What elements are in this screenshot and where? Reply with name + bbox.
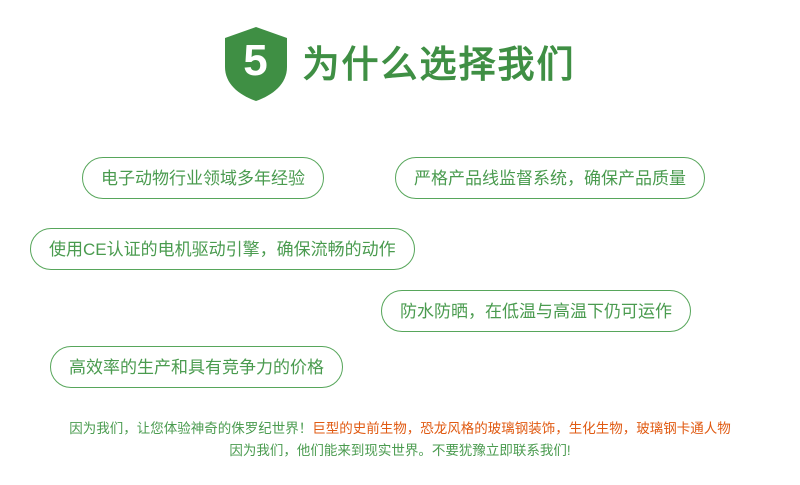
footer-line-2: 因为我们，他们能来到现实世界。不要犹豫立即联系我们! (0, 440, 800, 462)
footer-text: 因为我们，让您体验神奇的侏罗纪世界！巨型的史前生物，恐龙风格的玻璃钢装饰，生化生… (0, 418, 800, 462)
page-header: 5 为什么选择我们 (0, 26, 800, 102)
feature-pill: 电子动物行业领域多年经验 (82, 157, 324, 199)
feature-list: 电子动物行业领域多年经验 严格产品线监督系统，确保产品质量 使用CE认证的电机驱… (0, 150, 800, 390)
shield-icon: 5 (225, 27, 287, 101)
feature-pill: 严格产品线监督系统，确保产品质量 (395, 157, 705, 199)
footer-line-1: 因为我们，让您体验神奇的侏罗纪世界！巨型的史前生物，恐龙风格的玻璃钢装饰，生化生… (0, 418, 800, 440)
feature-pill: 高效率的生产和具有竞争力的价格 (50, 346, 343, 388)
footer-line-1-highlight: 巨型的史前生物，恐龙风格的玻璃钢装饰，生化生物，玻璃钢卡通人物 (312, 421, 731, 436)
feature-pill: 防水防晒，在低温与高温下仍可运作 (381, 290, 691, 332)
footer-line-1-prefix: 因为我们，让您体验神奇的侏罗纪世界！ (69, 421, 312, 436)
badge-number: 5 (225, 27, 287, 101)
promo-page: 5 为什么选择我们 电子动物行业领域多年经验 严格产品线监督系统，确保产品质量 … (0, 0, 800, 485)
feature-pill: 使用CE认证的电机驱动引擎，确保流畅的动作 (30, 228, 415, 270)
page-title: 为什么选择我们 (303, 46, 576, 83)
